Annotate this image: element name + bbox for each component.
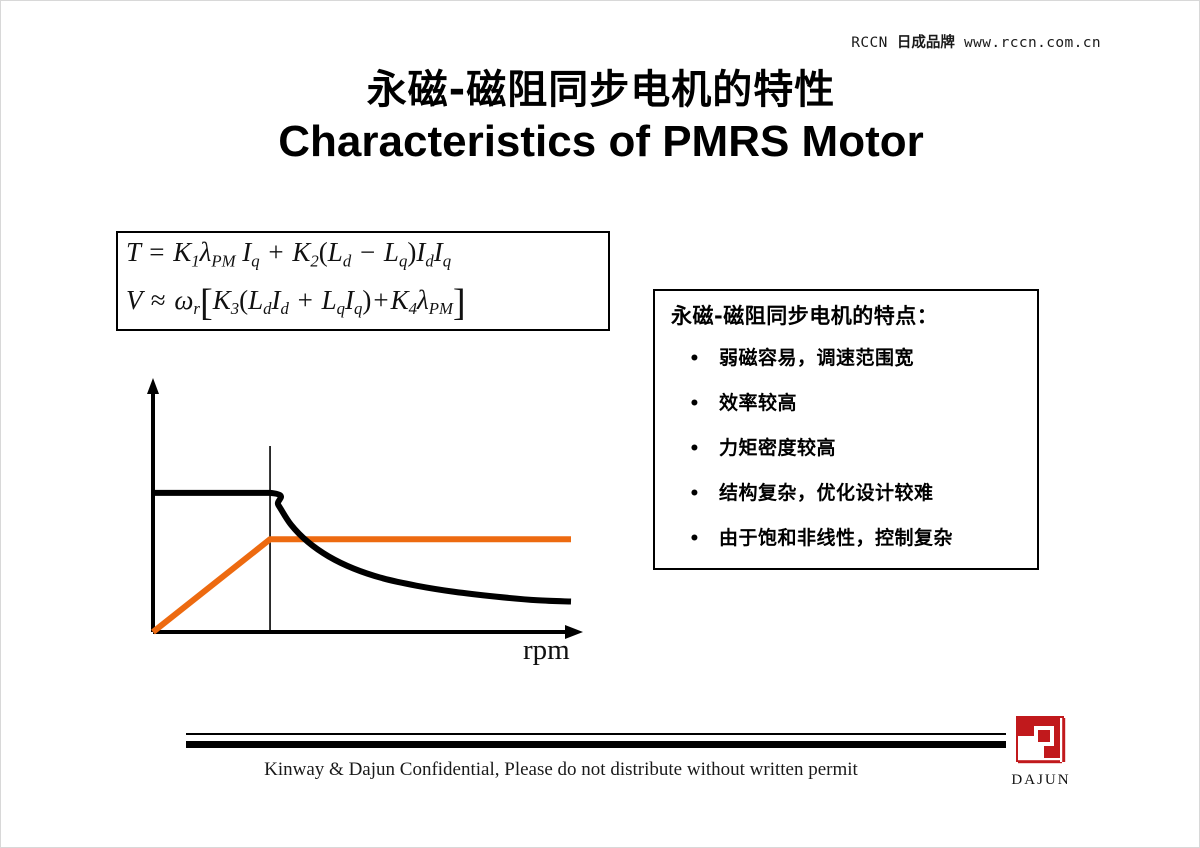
eq2-iq: I bbox=[345, 285, 354, 315]
eq2-lq-sub: q bbox=[337, 299, 345, 318]
eq1-plus: + bbox=[266, 237, 285, 267]
list-item-label: 效率较高 bbox=[719, 388, 797, 415]
eq2-lhs: V bbox=[126, 285, 142, 315]
eq2-k4-sub: 4 bbox=[409, 299, 417, 318]
eq2-approx: ≈ bbox=[149, 285, 168, 315]
eq1-iq: I bbox=[242, 237, 251, 267]
eq1-k1-sub: 1 bbox=[191, 251, 199, 270]
features-heading: 永磁-磁阻同步电机的特点： bbox=[671, 300, 938, 330]
eq1-ld-sub: d bbox=[343, 251, 351, 270]
eq1-equals: = bbox=[147, 237, 166, 267]
features-list: • 弱磁容易，调速范围宽 • 效率较高 • 力矩密度较高 • 结构复杂，优化设计… bbox=[689, 343, 1031, 568]
brand-name-cn: 日成品牌 bbox=[897, 35, 955, 51]
eq2-k3-sub: 3 bbox=[231, 299, 239, 318]
eq1-paren-open: ( bbox=[319, 237, 328, 267]
eq1-k2-sub: 2 bbox=[310, 251, 318, 270]
eq2-k3: K bbox=[213, 285, 231, 315]
eq1-iq-sub: q bbox=[251, 251, 259, 270]
brand-name: RCCN bbox=[851, 35, 888, 51]
bullet-icon: • bbox=[689, 351, 719, 368]
equation-box: T = K1λPM Iq + K2(Ld − Lq)IdIq V ≈ ωr[K3… bbox=[116, 231, 610, 331]
dajun-logo: DAJUN bbox=[996, 714, 1086, 799]
list-item: • 力矩密度较高 bbox=[689, 433, 1031, 478]
eq1-k2: K bbox=[292, 237, 310, 267]
bullet-icon: • bbox=[689, 486, 719, 503]
eq2-omega: ω bbox=[174, 285, 193, 315]
eq2-bracket-open: [ bbox=[200, 282, 213, 324]
eq1-ld: L bbox=[328, 237, 343, 267]
eq2-plus1: + bbox=[296, 285, 315, 315]
eq2-paren-open: ( bbox=[239, 285, 248, 315]
eq1-id2: I bbox=[416, 237, 425, 267]
x-axis-label: rpm bbox=[523, 634, 570, 667]
list-item: • 弱磁容易，调速范围宽 bbox=[689, 343, 1031, 388]
y-axis-arrow-icon bbox=[147, 378, 159, 394]
list-item-label: 力矩密度较高 bbox=[719, 433, 836, 460]
list-item: • 由于饱和非线性，控制复杂 bbox=[689, 523, 1031, 568]
series-power bbox=[153, 539, 571, 632]
page-title-cn: 永磁-磁阻同步电机的特性 bbox=[1, 69, 1200, 111]
brand-header: RCCN 日成品牌 www.rccn.com.cn bbox=[851, 31, 1101, 52]
equation-torque: T = K1λPM Iq + K2(Ld − Lq)IdIq bbox=[126, 237, 451, 271]
slide-canvas: RCCN 日成品牌 www.rccn.com.cn 永磁-磁阻同步电机的特性 C… bbox=[0, 0, 1200, 848]
eq1-iq2: I bbox=[434, 237, 443, 267]
eq1-lambda: λ bbox=[200, 237, 212, 267]
eq1-k1: K bbox=[173, 237, 191, 267]
bullet-icon: • bbox=[689, 531, 719, 548]
torque-speed-chart: rpm bbox=[131, 376, 601, 676]
eq1-lq: L bbox=[384, 237, 399, 267]
brand-website: www.rccn.com.cn bbox=[964, 35, 1101, 51]
eq2-plus2: + bbox=[371, 285, 390, 315]
bullet-icon: • bbox=[689, 396, 719, 413]
dajun-logo-mark-icon bbox=[996, 714, 1086, 770]
features-box: 永磁-磁阻同步电机的特点： • 弱磁容易，调速范围宽 • 效率较高 • 力矩密度… bbox=[653, 289, 1039, 570]
eq1-paren-close: ) bbox=[407, 237, 416, 267]
list-item-label: 由于饱和非线性，控制复杂 bbox=[719, 523, 953, 550]
eq1-minus: − bbox=[358, 237, 377, 267]
dajun-logo-label: DAJUN bbox=[996, 772, 1086, 789]
eq2-lq: L bbox=[322, 285, 337, 315]
eq2-lambda-sub: PM bbox=[429, 299, 453, 318]
page-title-en: Characteristics of PMRS Motor bbox=[1, 119, 1200, 165]
list-item: • 结构复杂，优化设计较难 bbox=[689, 478, 1031, 523]
eq2-ld: L bbox=[248, 285, 263, 315]
bullet-icon: • bbox=[689, 441, 719, 458]
eq1-id2-sub: d bbox=[425, 251, 433, 270]
eq2-ld-sub: d bbox=[263, 299, 271, 318]
footer-rule-thick bbox=[186, 741, 1006, 748]
footer-rule-thin bbox=[186, 733, 1006, 735]
list-item-label: 弱磁容易，调速范围宽 bbox=[719, 343, 914, 370]
eq1-iq2-sub: q bbox=[443, 251, 451, 270]
chart-svg bbox=[131, 376, 601, 676]
eq2-bracket-close: ] bbox=[453, 282, 466, 324]
list-item: • 效率较高 bbox=[689, 388, 1031, 433]
eq2-lambda: λ bbox=[417, 285, 429, 315]
eq1-lhs: T bbox=[126, 237, 141, 267]
eq2-id-sub: d bbox=[281, 299, 289, 318]
footer-confidential-notice: Kinway & Dajun Confidential, Please do n… bbox=[141, 759, 981, 781]
eq2-id: I bbox=[272, 285, 281, 315]
list-item-label: 结构复杂，优化设计较难 bbox=[719, 478, 934, 505]
equation-voltage: V ≈ ωr[K3(LdId + LqIq)+K4λPM] bbox=[126, 281, 466, 325]
eq2-k4: K bbox=[391, 285, 409, 315]
eq1-lambda-sub: PM bbox=[211, 251, 235, 270]
